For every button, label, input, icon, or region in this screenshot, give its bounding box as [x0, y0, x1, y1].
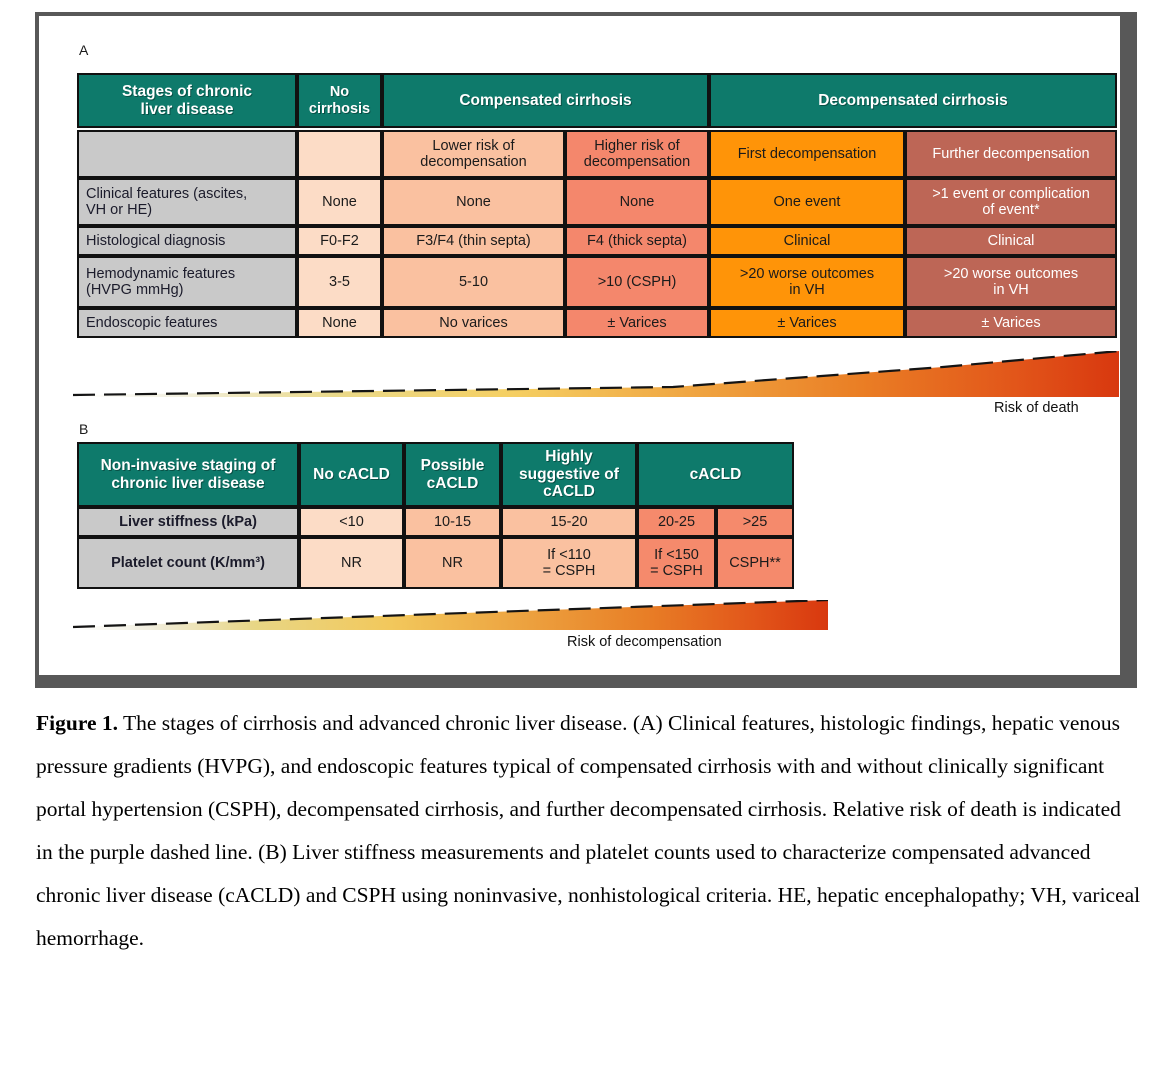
figure-caption-text: The stages of cirrhosis and advanced chr… [36, 711, 1140, 950]
table-a-cell: 5-10 [382, 256, 565, 308]
table-a-cell: >20 worse outcomesin VH [709, 256, 905, 308]
table-a-cell: >20 worse outcomesin VH [905, 256, 1117, 308]
table-a-cell: F4 (thick septa) [565, 226, 709, 256]
table-a-cell: F0-F2 [297, 226, 382, 256]
table-a-subheader-higher-risk: Higher risk ofdecompensation [565, 130, 709, 178]
table-b-header-possible-cacld: PossiblecACLD [404, 442, 501, 507]
figure-inner: A Stages of chronicliver disease Nocirrh… [39, 16, 1120, 675]
table-a-row-label: Endoscopic features [77, 308, 297, 338]
table-a-header-no-cirrhosis: Nocirrhosis [297, 73, 382, 128]
table-b-header-cacld: cACLD [637, 442, 794, 507]
table-a-cell: One event [709, 178, 905, 226]
table-a-cell: None [382, 178, 565, 226]
risk-of-decompensation-label: Risk of decompensation [567, 634, 722, 650]
table-a-cell: >10 (CSPH) [565, 256, 709, 308]
table-a-row-label: Clinical features (ascites,VH or HE) [77, 178, 297, 226]
table-b-header-no-cacld: No cACLD [299, 442, 404, 507]
table-a-header-decompensated: Decompensated cirrhosis [709, 73, 1117, 128]
figure-page: A Stages of chronicliver disease Nocirrh… [0, 0, 1171, 1069]
table-a-header-compensated: Compensated cirrhosis [382, 73, 709, 128]
table-a-header-stub: Stages of chronicliver disease [77, 73, 297, 128]
table-a-subheader-lower-risk: Lower risk ofdecompensation [382, 130, 565, 178]
table-a-subheader-no-cirrhosis [297, 130, 382, 178]
risk-of-death-label: Risk of death [994, 400, 1079, 416]
table-a-cell: None [297, 308, 382, 338]
table-a-cell: No varices [382, 308, 565, 338]
table-a-cell: Clinical [709, 226, 905, 256]
table-a-row-label: Hemodynamic features(HVPG mmHg) [77, 256, 297, 308]
table-a-cell: ± Varices [565, 308, 709, 338]
table-b-cell: 20-25 [637, 507, 716, 537]
table-b-cell: 10-15 [404, 507, 501, 537]
table-b-cell: If <110= CSPH [501, 537, 637, 589]
table-a-subheader-first-decomp: First decompensation [709, 130, 905, 178]
figure-caption: Figure 1. The stages of cirrhosis and ad… [36, 702, 1141, 960]
table-a-cell: None [297, 178, 382, 226]
figure-caption-label: Figure 1. [36, 711, 118, 735]
panel-b-letter: B [79, 421, 88, 437]
table-a-cell: F3/F4 (thin septa) [382, 226, 565, 256]
table-b-cell: >25 [716, 507, 794, 537]
table-b-cell: NR [404, 537, 501, 589]
table-a-cell: 3-5 [297, 256, 382, 308]
table-b-cell: CSPH** [716, 537, 794, 589]
table-b-cell: NR [299, 537, 404, 589]
risk-of-death-wedge [73, 351, 1119, 401]
table-b-row-label: Liver stiffness (kPa) [77, 507, 299, 537]
figure-frame: A Stages of chronicliver disease Nocirrh… [35, 12, 1137, 688]
table-a-cell: Clinical [905, 226, 1117, 256]
table-a-subheader-further-decomp: Further decompensation [905, 130, 1117, 178]
table-b-header-highly-suggestive: Highlysuggestive ofcACLD [501, 442, 637, 507]
table-a-cell: ± Varices [709, 308, 905, 338]
table-b-cell: <10 [299, 507, 404, 537]
risk-of-decompensation-wedge [73, 600, 828, 634]
table-a-row-label: Histological diagnosis [77, 226, 297, 256]
panel-a-letter: A [79, 42, 88, 58]
table-b-row-label: Platelet count (K/mm³) [77, 537, 299, 589]
table-a-subheader-stub [77, 130, 297, 178]
table-a-cell: None [565, 178, 709, 226]
table-a-cell: >1 event or complicationof event* [905, 178, 1117, 226]
table-b-cell: 15-20 [501, 507, 637, 537]
table-b-header-stub: Non-invasive staging ofchronic liver dis… [77, 442, 299, 507]
table-a-cell: ± Varices [905, 308, 1117, 338]
table-b-cell: If <150= CSPH [637, 537, 716, 589]
